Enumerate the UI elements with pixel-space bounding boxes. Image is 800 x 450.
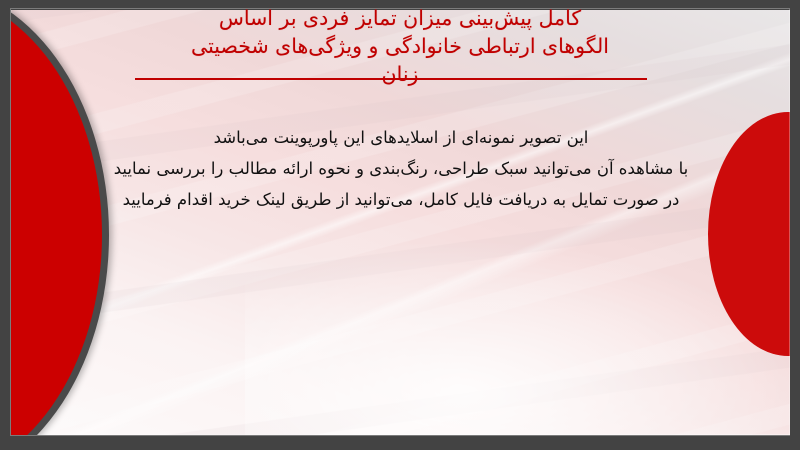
presentation-slide: کامل پیش‌بینی میزان تمایز فردی بر اساس ا… bbox=[0, 0, 800, 450]
title-divider-rule bbox=[135, 78, 647, 80]
slide-title: کامل پیش‌بینی میزان تمایز فردی بر اساس ا… bbox=[0, 4, 800, 88]
body-line-2: با مشاهده آن می‌توانید سبک طراحی، رنگ‌بن… bbox=[60, 153, 742, 184]
background-highlight-glow bbox=[245, 243, 792, 435]
slide-body-text: این تصویر نمونه‌ای از اسلایدهای این پاور… bbox=[60, 122, 742, 215]
slide-title-line-2: الگوهای ارتباطی خانوادگی و ویژگی‌های شخص… bbox=[0, 32, 800, 60]
slide-title-line-3: زنان bbox=[0, 60, 800, 88]
slide-title-line-1: کامل پیش‌بینی میزان تمایز فردی بر اساس bbox=[0, 4, 800, 32]
body-line-3: در صورت تمایل به دریافت فایل کامل، می‌تو… bbox=[60, 184, 742, 215]
body-line-1: این تصویر نمونه‌ای از اسلایدهای این پاور… bbox=[60, 122, 742, 153]
